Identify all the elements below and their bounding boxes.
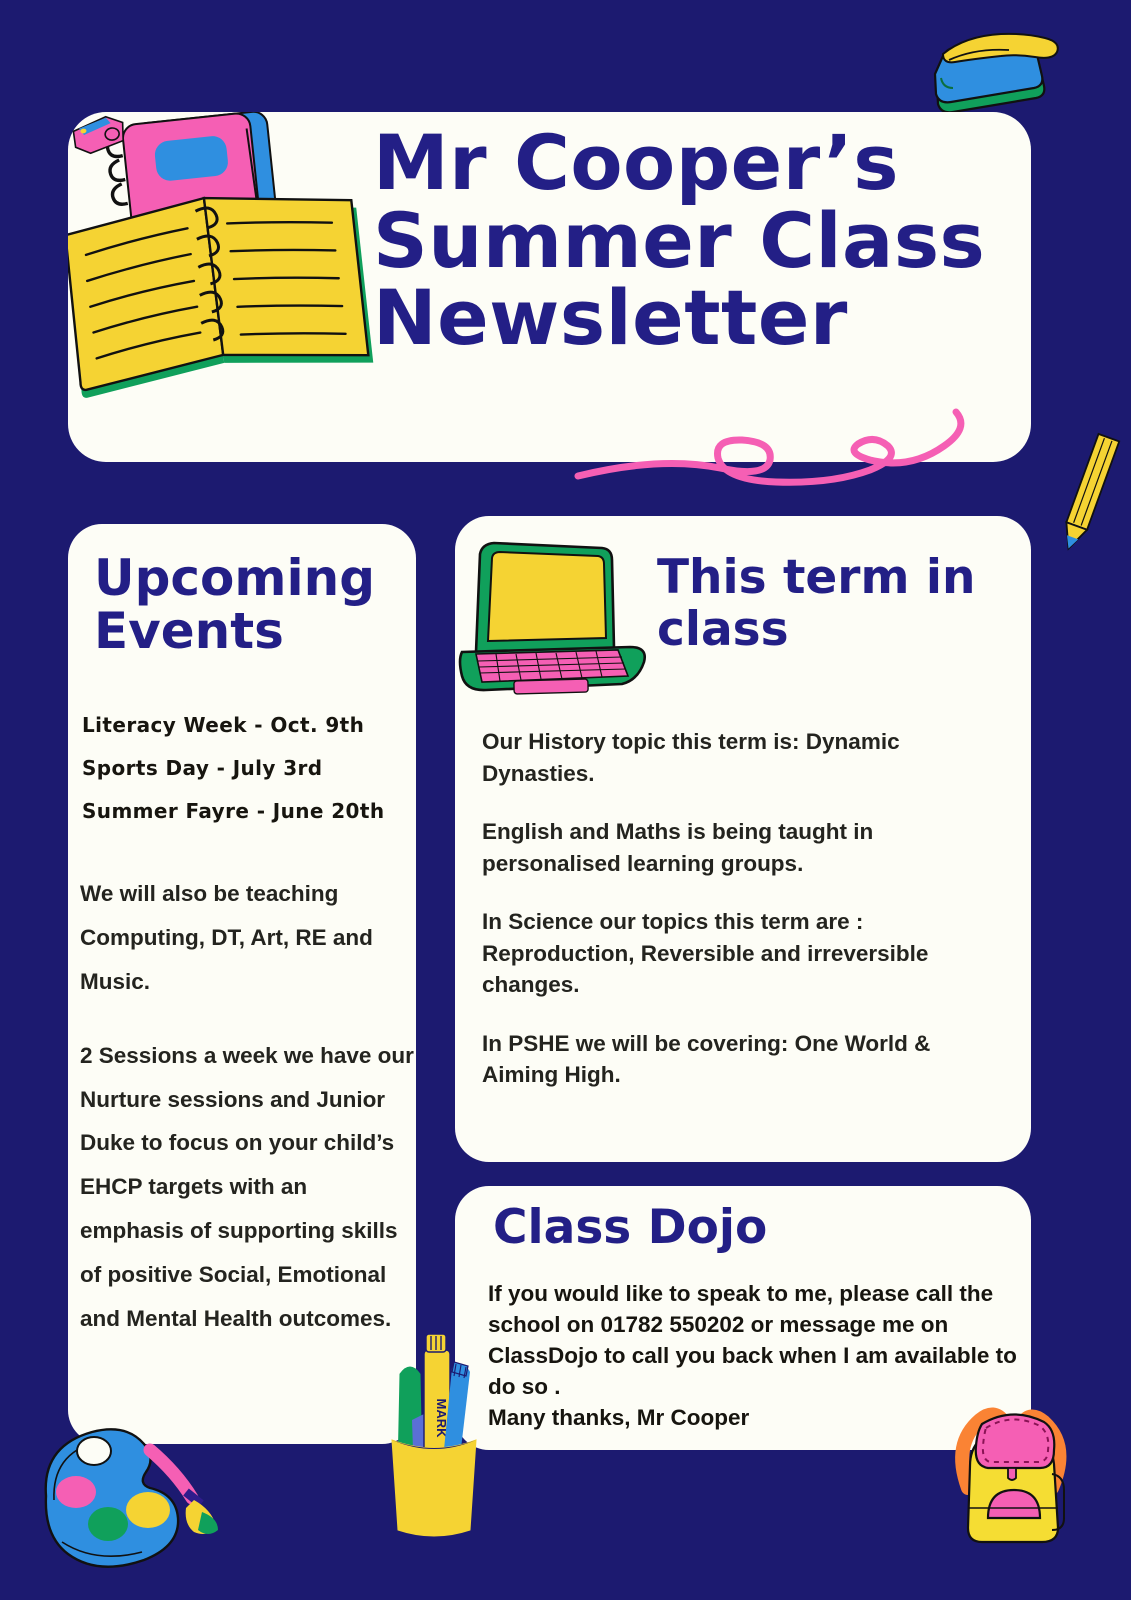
- term-paragraph-3: In Science our topics this term are : Re…: [482, 906, 1009, 1001]
- events-body-text: We will also be teaching Computing, DT, …: [80, 872, 416, 1341]
- events-paragraph-2: 2 Sessions a week we have our Nurture se…: [80, 1034, 416, 1341]
- this-term-heading: This term in class: [657, 552, 1017, 655]
- term-paragraph-2: English and Maths is being taught in per…: [482, 816, 1009, 879]
- term-paragraph-1: Our History topic this term is: Dynamic …: [482, 726, 1009, 789]
- header-card: Mr Cooper’s Summer Class Newsletter: [68, 112, 1031, 462]
- this-term-card: This term in class Our History topic thi…: [455, 516, 1031, 1162]
- list-item: Summer Fayre - June 20th: [82, 790, 412, 833]
- upcoming-events-heading: Upcoming Events: [94, 552, 394, 658]
- class-dojo-body-text: If you would like to speak to me, please…: [488, 1278, 1018, 1433]
- events-paragraph-1: We will also be teaching Computing, DT, …: [80, 872, 416, 1004]
- this-term-body-text: Our History topic this term is: Dynamic …: [482, 726, 1009, 1091]
- events-list: Literacy Week - Oct. 9th Sports Day - Ju…: [82, 704, 412, 833]
- term-paragraph-4: In PSHE we will be covering: One World &…: [482, 1028, 1009, 1091]
- open-notebook-icon: [68, 112, 408, 402]
- pencil-icon: [1053, 430, 1123, 560]
- list-item: Literacy Week - Oct. 9th: [82, 704, 412, 747]
- list-item: Sports Day - July 3rd: [82, 747, 412, 790]
- pencil-sharpener-icon: [68, 112, 128, 156]
- class-dojo-heading: Class Dojo: [493, 1202, 767, 1254]
- upcoming-events-card: Upcoming Events Literacy Week - Oct. 9th…: [68, 524, 416, 1444]
- page-title: Mr Cooper’s Summer Class Newsletter: [373, 124, 1013, 357]
- newsletter-page: Mr Cooper’s Summer Class Newsletter Upco…: [0, 0, 1131, 1600]
- marker-label: MARK: [434, 1399, 449, 1439]
- class-dojo-card: Class Dojo If you would like to speak to…: [455, 1186, 1031, 1450]
